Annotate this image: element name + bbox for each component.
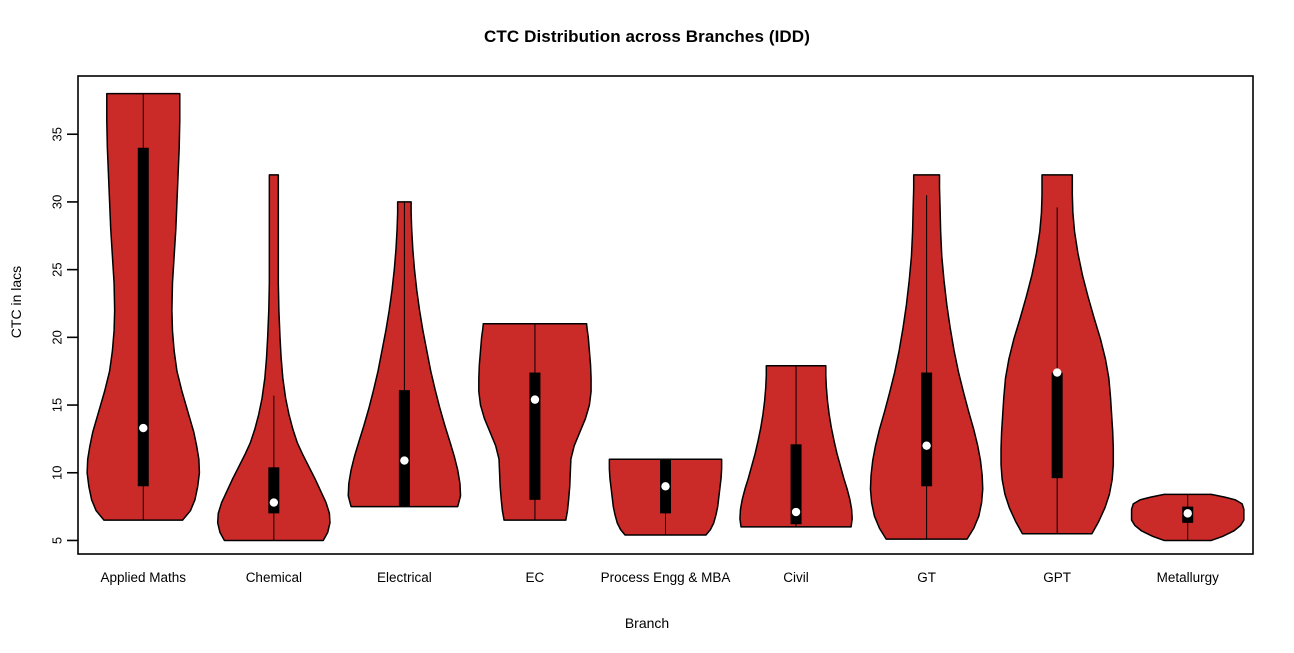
x-axis-tick-label: Applied Maths <box>100 570 186 585</box>
violin-electrical[interactable] <box>348 202 460 507</box>
median-marker <box>1184 509 1192 517</box>
median-marker <box>139 424 147 432</box>
y-axis-tick-label: 15 <box>49 398 64 412</box>
x-axis-tick-label: Metallurgy <box>1157 570 1220 585</box>
x-axis: Applied MathsChemicalElectricalECProcess… <box>100 570 1219 585</box>
y-axis-tick-label: 20 <box>49 330 64 344</box>
chart-canvas: 5101520253035Applied MathsChemicalElectr… <box>0 0 1294 653</box>
violins-group <box>87 94 1244 541</box>
violin-ec[interactable] <box>479 324 591 520</box>
y-axis-tick-label: 30 <box>49 195 64 209</box>
median-marker <box>1053 368 1061 376</box>
median-marker <box>922 441 930 449</box>
violin-chemical[interactable] <box>218 175 330 541</box>
y-axis-tick-label: 25 <box>49 262 64 276</box>
iqr-box <box>921 373 932 487</box>
violin-gpt[interactable] <box>1001 175 1113 534</box>
x-axis-tick-label: Process Engg & MBA <box>601 570 731 585</box>
y-axis-tick-label: 35 <box>49 127 64 141</box>
x-axis-tick-label: Chemical <box>246 570 302 585</box>
median-marker <box>792 508 800 516</box>
y-axis-tick-label: 5 <box>49 537 64 544</box>
median-marker <box>270 498 278 506</box>
iqr-box <box>1052 373 1063 479</box>
x-axis-tick-label: GPT <box>1043 570 1071 585</box>
median-marker <box>661 482 669 490</box>
iqr-box <box>399 390 410 506</box>
violin-metallurgy[interactable] <box>1132 494 1244 540</box>
iqr-box <box>529 373 540 500</box>
violin-applied-maths[interactable] <box>87 94 199 521</box>
x-axis-tick-label: EC <box>526 570 545 585</box>
violin-gt[interactable] <box>870 175 982 539</box>
x-axis-label: Branch <box>0 615 1294 631</box>
violin-civil[interactable] <box>740 366 852 527</box>
x-axis-tick-label: Electrical <box>377 570 432 585</box>
iqr-box <box>138 148 149 487</box>
x-axis-tick-label: GT <box>917 570 936 585</box>
y-axis-label: CTC in lacs <box>8 242 24 362</box>
median-marker <box>400 456 408 464</box>
violin-plot-figure: CTC Distribution across Branches (IDD) 5… <box>0 0 1294 653</box>
median-marker <box>531 395 539 403</box>
y-axis-tick-label: 10 <box>49 466 64 480</box>
violin-process-engg-mba[interactable] <box>609 459 721 535</box>
y-axis: 5101520253035 <box>49 127 78 544</box>
x-axis-tick-label: Civil <box>783 570 809 585</box>
